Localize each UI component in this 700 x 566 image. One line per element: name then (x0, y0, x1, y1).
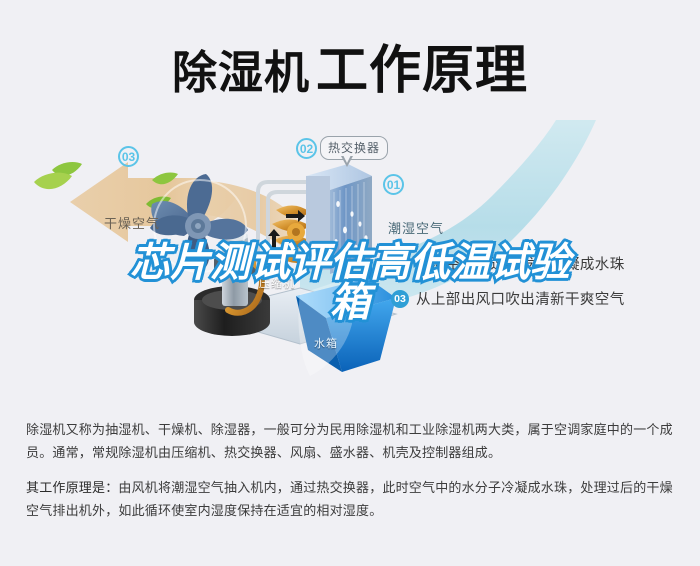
compressor-label: 压缩机 (259, 275, 295, 291)
legend-list: 02 潮湿空气经过蒸发器冷凝成水珠 03 从上部出风口吹出清新干爽空气 (391, 246, 691, 316)
legend-item-label: 潮湿空气经过蒸发器冷凝成水珠 (416, 253, 625, 274)
diagram-badge-02: 02 (296, 138, 317, 159)
dry-air-label: 干燥空气 (104, 213, 160, 232)
body-copy: 除湿机又称为抽湿机、干燥机、除湿器，一般可分为民用除湿机和工业除湿机两大类，属于… (26, 418, 676, 534)
page-title: 除湿机工作原理 (0, 28, 700, 103)
evaporator-fins (306, 176, 330, 270)
page-title-part-2: 工作原理 (316, 28, 528, 103)
heat-exchanger-callout: 热交换器 (320, 136, 388, 160)
page-title-part-1: 除湿机 (172, 36, 310, 101)
paragraph-1: 除湿机又称为抽湿机、干燥机、除湿器，一般可分为民用除湿机和工业除湿机两大类，属于… (26, 418, 676, 464)
list-item: 02 潮湿空气经过蒸发器冷凝成水珠 (391, 246, 691, 281)
list-item: 03 从上部出风口吹出清新干爽空气 (391, 281, 691, 316)
paragraph-2-lead: 其工作原理是： (26, 480, 118, 495)
diagram-badge-03: 03 (118, 146, 139, 167)
evaporator-front (330, 176, 372, 274)
legend-badge: 03 (391, 290, 409, 308)
legend-badge: 02 (391, 255, 409, 273)
heat-exchanger-callout-pointer (341, 156, 353, 167)
water-tank-label: 水箱 (314, 335, 338, 351)
diagram-badge-01: 01 (383, 174, 404, 195)
paragraph-2: 其工作原理是：由风机将潮湿空气抽入机内，通过热交换器，此时空气中的水分子冷凝成水… (26, 476, 676, 522)
paragraph-2-rest: 由风机将潮湿空气抽入机内，通过热交换器，此时空气中的水分子冷凝成水珠，处理过后的… (26, 480, 673, 518)
dehumidifier-infographic: 除湿机工作原理 (0, 0, 700, 566)
humid-air-label: 潮湿空气 (388, 218, 444, 237)
legend-item-label: 从上部出风口吹出清新干爽空气 (416, 288, 625, 309)
